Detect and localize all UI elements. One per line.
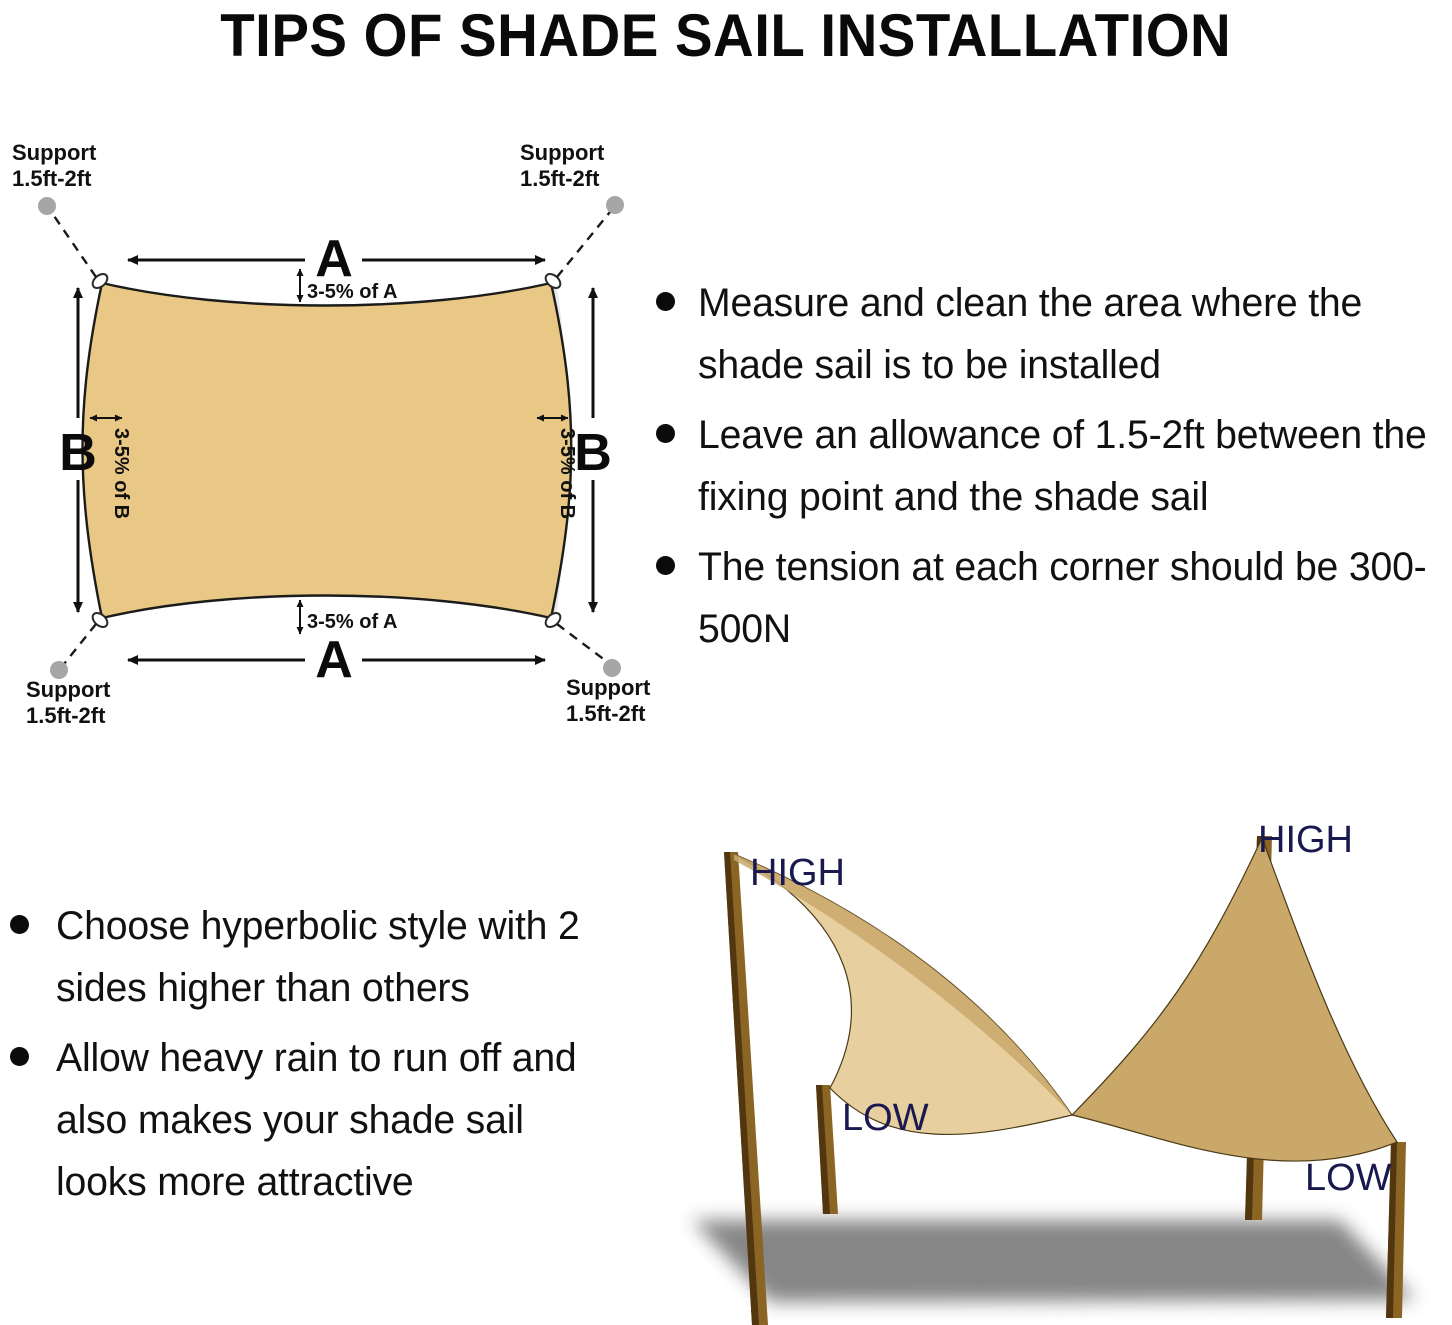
support-bottom-right-line1: Support <box>566 675 651 700</box>
dimension-a-top-label: A <box>315 230 353 288</box>
tip-text: Allow heavy rain to run off and also mak… <box>56 1027 619 1213</box>
bullet-dot-icon <box>10 915 29 934</box>
tip-text: Choose hyperbolic style with 2 sides hig… <box>56 895 619 1019</box>
support-top-right-line2: 1.5ft-2ft <box>520 166 600 191</box>
bullet-dot-icon <box>656 424 675 443</box>
support-label-bottom-left: Support 1.5ft-2ft <box>26 677 111 728</box>
page-header: TIPS OF SHADE SAIL INSTALLATION <box>0 0 1452 72</box>
list-item: Leave an allowance of 1.5-2ft between th… <box>642 404 1452 528</box>
list-item: Measure and clean the area where the sha… <box>642 272 1452 396</box>
support-bottom-left-line1: Support <box>26 677 111 702</box>
dimension-b-right-label: B <box>574 424 612 482</box>
bullet-dot-icon <box>656 292 675 311</box>
support-label-bottom-right: Support 1.5ft-2ft <box>566 675 651 726</box>
label-high-right: HIGH <box>1258 819 1353 861</box>
dimension-b-right: B <box>574 288 612 612</box>
installation-tips-right-list: Measure and clean the area where the sha… <box>642 272 1452 668</box>
installation-tips-left-list: Choose hyperbolic style with 2 sides hig… <box>0 895 630 1221</box>
support-top-right-line1: Support <box>520 140 605 165</box>
tip-text: Measure and clean the area where the sha… <box>698 272 1439 396</box>
sag-callout-left-label: 3-5% of B <box>110 428 132 519</box>
dimension-a-top: A <box>128 230 545 288</box>
label-low-right: LOW <box>1305 1157 1392 1199</box>
dimension-b-left-label: B <box>59 424 97 482</box>
list-item: The tension at each corner should be 300… <box>642 536 1452 660</box>
support-bottom-right-line2: 1.5ft-2ft <box>566 701 646 726</box>
sail-panel-left <box>734 854 1072 1134</box>
bullet-dot-icon <box>656 556 675 575</box>
label-high-left: HIGH <box>750 852 845 894</box>
bullet-dot-icon <box>10 1047 29 1066</box>
support-label-top-right: Support 1.5ft-2ft <box>520 140 605 191</box>
ground-shadow <box>692 1220 1415 1302</box>
list-item: Choose hyperbolic style with 2 sides hig… <box>0 895 630 1019</box>
sail-panel-right <box>1072 838 1397 1161</box>
sag-callout-top-label: 3-5% of A <box>307 281 397 303</box>
support-label-top-left: Support 1.5ft-2ft <box>12 140 97 191</box>
rectangular-sail-diagram: Support 1.5ft-2ft Support 1.5ft-2ft Supp… <box>0 150 660 730</box>
tip-text: Leave an allowance of 1.5-2ft between th… <box>698 404 1439 528</box>
hyperbolic-sail-illustration: HIGH HIGH LOW LOW <box>640 790 1452 1325</box>
post-low-left <box>816 1085 838 1214</box>
list-item: Allow heavy rain to run off and also mak… <box>0 1027 630 1213</box>
sag-callout-bottom-label: 3-5% of A <box>307 611 397 633</box>
support-top-left-line1: Support <box>12 140 97 165</box>
sag-callout-bottom: 3-5% of A <box>300 600 397 634</box>
support-top-left-line2: 1.5ft-2ft <box>12 166 92 191</box>
dimension-a-bottom-label: A <box>315 631 353 689</box>
tip-text: The tension at each corner should be 300… <box>698 536 1439 660</box>
dimension-a-bottom: A <box>128 631 545 689</box>
shade-sail-fabric <box>83 283 572 618</box>
sag-callout-right-label: 3-5% of B <box>556 428 578 519</box>
page-title: TIPS OF SHADE SAIL INSTALLATION <box>221 6 1232 66</box>
label-low-left: LOW <box>842 1097 929 1139</box>
support-bottom-left-line2: 1.5ft-2ft <box>26 703 106 728</box>
